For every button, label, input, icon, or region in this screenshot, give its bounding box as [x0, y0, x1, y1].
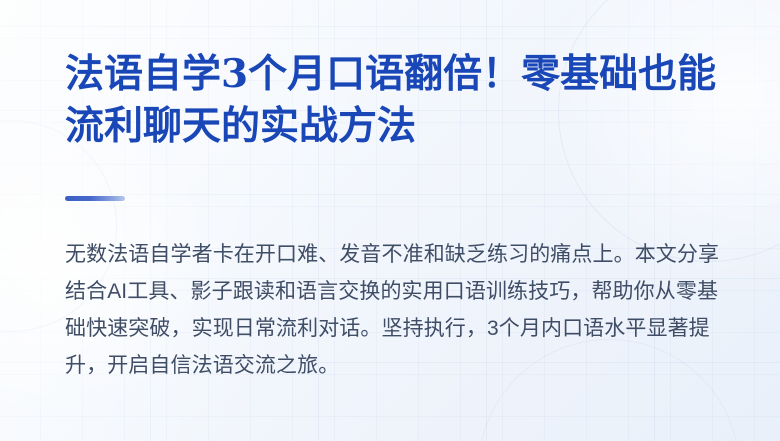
banner-content: 法语自学3个月口语翻倍！零基础也能流利聊天的实战方法 无数法语自学者卡在开口难、…	[65, 0, 720, 441]
title-divider	[65, 196, 125, 201]
banner-description: 无数法语自学者卡在开口难、发音不准和缺乏练习的痛点上。本文分享结合AI工具、影子…	[65, 236, 720, 384]
article-cover-banner: 法语自学3个月口语翻倍！零基础也能流利聊天的实战方法 无数法语自学者卡在开口难、…	[0, 0, 780, 441]
banner-title: 法语自学3个月口语翻倍！零基础也能流利聊天的实战方法	[65, 48, 720, 152]
